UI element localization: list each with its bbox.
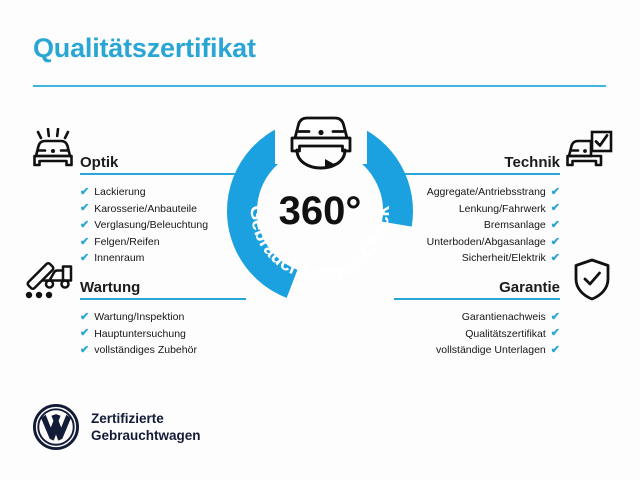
check-icon: ✔ xyxy=(551,220,560,231)
footer-brand-text: Zertifizierte Gebrauchtwagen xyxy=(91,410,201,444)
list-item-label: Wartung/Inspektion xyxy=(94,309,184,326)
list-item-label: Sicherheit/Elektrik xyxy=(462,250,546,267)
list-item: ✔ Wartung/Inspektion xyxy=(80,309,246,326)
section-garantie-title: Garantie xyxy=(499,279,560,296)
list-item: ✔ Lackierung xyxy=(80,184,246,201)
car-front-shine-icon xyxy=(28,128,76,177)
page-title: Qualitätszertifikat xyxy=(33,33,256,64)
list-item-label: Qualitätszertifikat xyxy=(465,326,546,343)
check-icon: ✔ xyxy=(80,237,89,248)
list-item: Garantienachweis ✔ xyxy=(394,309,560,326)
list-item-label: Hauptuntersuchung xyxy=(94,326,186,343)
wrench-van-icon xyxy=(24,258,74,305)
title-divider xyxy=(33,85,606,87)
section-garantie-header: Garantie xyxy=(394,270,560,300)
list-item: ✔ Hauptuntersuchung xyxy=(80,326,246,343)
list-item: Unterboden/Abgasanlage ✔ xyxy=(394,234,560,251)
footer-brand: Zertifizierte Gebrauchtwagen xyxy=(33,404,201,450)
section-wartung-header: Wartung xyxy=(80,270,246,300)
check-icon: ✔ xyxy=(80,312,89,323)
badge-360-gebrauchtwagen-check: Gebrauchtwagen-Check 360° xyxy=(226,117,414,305)
section-optik-header: Optik xyxy=(80,145,246,175)
check-icon: ✔ xyxy=(80,345,89,356)
list-item: Lenkung/Fahrwerk ✔ xyxy=(394,201,560,218)
check-icon: ✔ xyxy=(80,187,89,198)
list-item-label: Karosserie/Anbauteile xyxy=(94,201,197,218)
check-icon: ✔ xyxy=(551,237,560,248)
check-icon: ✔ xyxy=(80,253,89,264)
section-wartung-rule xyxy=(80,298,246,300)
list-item-label: Lackierung xyxy=(94,184,145,201)
list-item: Bremsanlage ✔ xyxy=(394,217,560,234)
car-front-checkbox-icon xyxy=(565,130,613,177)
list-item: Qualitätszertifikat ✔ xyxy=(394,326,560,343)
shield-check-icon xyxy=(572,258,612,307)
list-item: ✔ Verglasung/Beleuchtung xyxy=(80,217,246,234)
section-technik-rule xyxy=(394,173,560,175)
list-item-label: vollständige Unterlagen xyxy=(436,342,546,359)
list-item-label: Bremsanlage xyxy=(484,217,546,234)
check-icon: ✔ xyxy=(551,312,560,323)
section-technik-header: Technik xyxy=(394,145,560,175)
list-item-label: Innenraum xyxy=(94,250,144,267)
certificate-page: Qualitätszertifikat Optik xyxy=(0,0,640,480)
section-optik-rule xyxy=(80,173,246,175)
section-garantie-list: Garantienachweis ✔ Qualitätszertifikat ✔… xyxy=(394,309,560,359)
car-rotate-360-icon xyxy=(275,108,367,187)
check-icon: ✔ xyxy=(80,203,89,214)
section-garantie-rule xyxy=(394,298,560,300)
footer-line-2: Gebrauchtwagen xyxy=(91,427,201,444)
section-technik-title: Technik xyxy=(504,154,560,171)
list-item-label: Unterboden/Abgasanlage xyxy=(427,234,546,251)
list-item-label: Aggregate/Antriebsstrang xyxy=(427,184,546,201)
list-item: vollständige Unterlagen ✔ xyxy=(394,342,560,359)
list-item: ✔ Felgen/Reifen xyxy=(80,234,246,251)
list-item-label: vollständiges Zubehör xyxy=(94,342,197,359)
section-wartung: Wartung ✔ Wartung/Inspektion ✔ Hauptunte… xyxy=(80,270,246,359)
section-technik-list: Aggregate/Antriebsstrang ✔ Lenkung/Fahrw… xyxy=(394,184,560,267)
section-wartung-title: Wartung xyxy=(80,279,140,296)
list-item: ✔ Karosserie/Anbauteile xyxy=(80,201,246,218)
section-optik-title: Optik xyxy=(80,154,118,171)
list-item-label: Verglasung/Beleuchtung xyxy=(94,217,208,234)
check-icon: ✔ xyxy=(551,328,560,339)
vw-logo-icon xyxy=(33,404,79,450)
check-icon: ✔ xyxy=(551,203,560,214)
list-item: Aggregate/Antriebsstrang ✔ xyxy=(394,184,560,201)
list-item-label: Lenkung/Fahrwerk xyxy=(459,201,546,218)
section-optik-list: ✔ Lackierung ✔ Karosserie/Anbauteile ✔ V… xyxy=(80,184,246,267)
check-icon: ✔ xyxy=(551,345,560,356)
section-technik: Technik Aggregate/Antriebsstrang ✔ Lenku… xyxy=(394,145,560,267)
list-item: ✔ vollständiges Zubehör xyxy=(80,342,246,359)
check-icon: ✔ xyxy=(80,328,89,339)
section-wartung-list: ✔ Wartung/Inspektion ✔ Hauptuntersuchung… xyxy=(80,309,246,359)
section-garantie: Garantie Garantienachweis ✔ Qualitätszer… xyxy=(394,270,560,359)
check-icon: ✔ xyxy=(551,253,560,264)
list-item: ✔ Innenraum xyxy=(80,250,246,267)
section-optik: Optik ✔ Lackierung ✔ Karosserie/Anbautei… xyxy=(80,145,246,267)
list-item-label: Felgen/Reifen xyxy=(94,234,159,251)
footer-line-1: Zertifizierte xyxy=(91,410,201,427)
list-item: Sicherheit/Elektrik ✔ xyxy=(394,250,560,267)
list-item-label: Garantienachweis xyxy=(462,309,546,326)
badge-center-label: 360° xyxy=(279,189,362,233)
check-icon: ✔ xyxy=(80,220,89,231)
check-icon: ✔ xyxy=(551,187,560,198)
